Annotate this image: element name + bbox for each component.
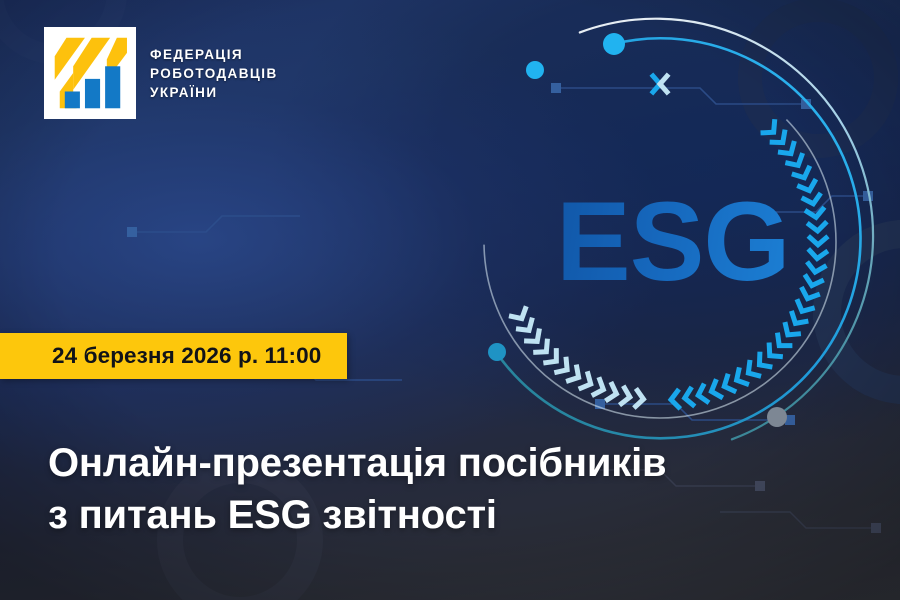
- logo-line-3: УКРАЇНИ: [150, 86, 278, 100]
- gear-bottom-right-icon: [813, 220, 900, 404]
- esg-event-banner: ESG ФЕД: [0, 0, 900, 600]
- emblem-node-dot-bottom-left: [488, 343, 506, 361]
- event-date-banner: 24 березня 2026 р. 11:00: [0, 333, 347, 379]
- emblem-node-dot-bottom-right: [767, 407, 787, 427]
- event-title-line-2: з питань ESG звітності: [48, 489, 848, 541]
- emblem-node-dot-top-right: [603, 33, 625, 55]
- event-title: Онлайн-презентація посібників з питань E…: [48, 437, 848, 541]
- organization-logo: ФЕДЕРАЦІЯ РОБОТОДАВЦІВ УКРАЇНИ: [44, 27, 278, 119]
- event-date-text: 24 березня 2026 р. 11:00: [52, 343, 321, 369]
- logo-line-2: РОБОТОДАВЦІВ: [150, 67, 278, 81]
- federation-emblem-icon: [44, 27, 136, 119]
- organization-name: ФЕДЕРАЦІЯ РОБОТОДАВЦІВ УКРАЇНИ: [150, 48, 278, 101]
- emblem-node-dot-top-left: [526, 61, 544, 79]
- event-title-line-1: Онлайн-презентація посібників: [48, 437, 848, 489]
- esg-wordmark: ESG: [556, 186, 790, 298]
- gear-top-right-icon: [738, 0, 898, 158]
- logo-line-1: ФЕДЕРАЦІЯ: [150, 48, 278, 62]
